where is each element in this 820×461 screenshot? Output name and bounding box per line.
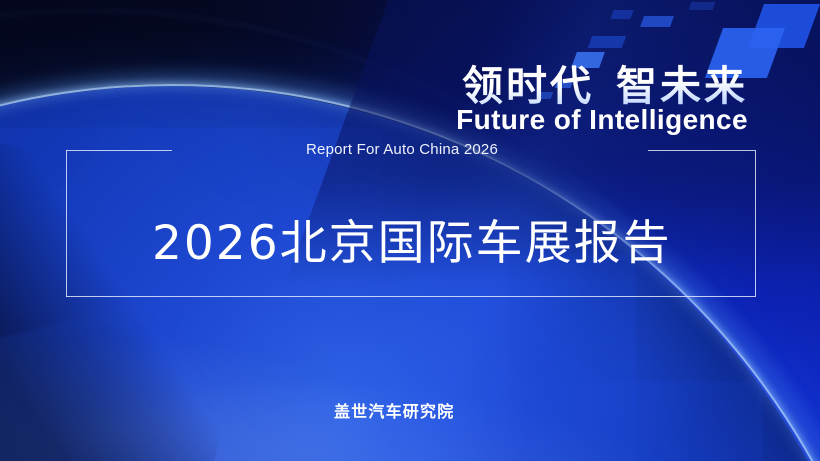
page-title: 2026北京国际车展报告 <box>152 204 672 273</box>
headline-chinese-right: 智未来 <box>616 62 748 110</box>
presentation-cover-slide: 领时代智未来 Future of Intelligence Report For… <box>0 0 820 461</box>
report-subtitle: Report For Auto China 2026 <box>306 141 498 158</box>
headline-chinese-left: 领时代 <box>462 62 594 110</box>
publisher-organization: 盖世汽车研究院 <box>334 398 454 422</box>
headline-chinese: 领时代智未来 <box>462 52 748 112</box>
headline-english: Future of Intelligence <box>456 104 748 136</box>
